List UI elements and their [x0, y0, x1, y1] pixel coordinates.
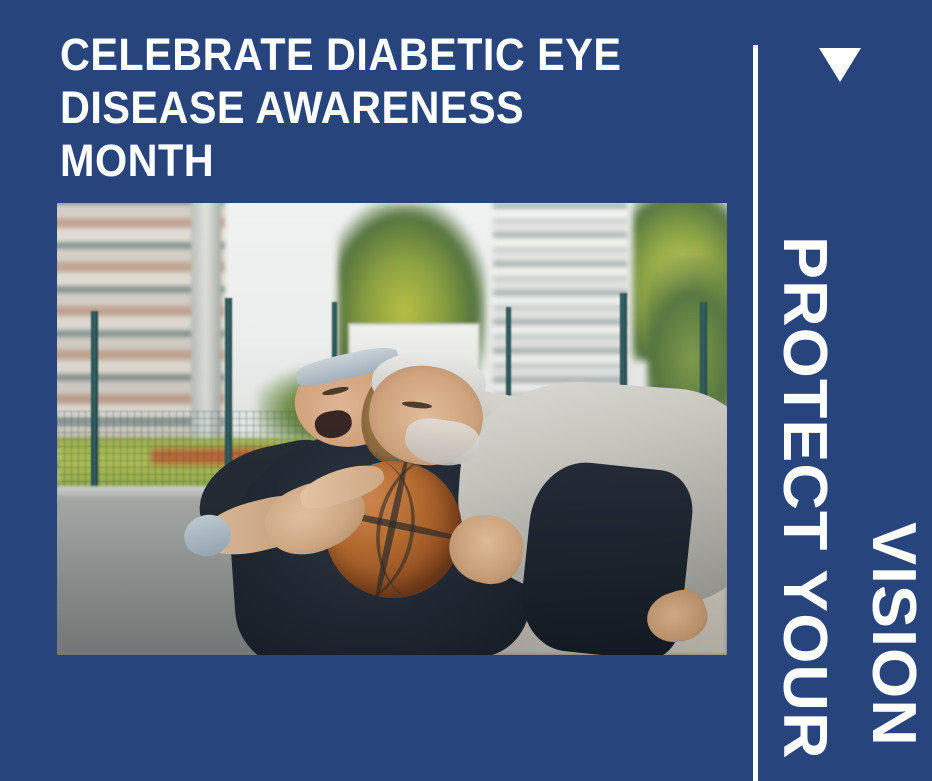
vertical-rule-icon	[753, 45, 758, 781]
page-title: CELEBRATE DIABETIC EYE DISEASE AWARENESS…	[60, 28, 649, 187]
triangle-down-icon	[819, 48, 861, 82]
tagline-line-2: VISION	[863, 522, 922, 747]
hero-photo	[57, 203, 727, 655]
awareness-poster: CELEBRATE DIABETIC EYE DISEASE AWARENESS…	[0, 0, 932, 781]
fence-post	[91, 311, 98, 514]
tagline-line-1: PROTECT YOUR	[774, 236, 833, 760]
photo-scene	[57, 203, 727, 655]
